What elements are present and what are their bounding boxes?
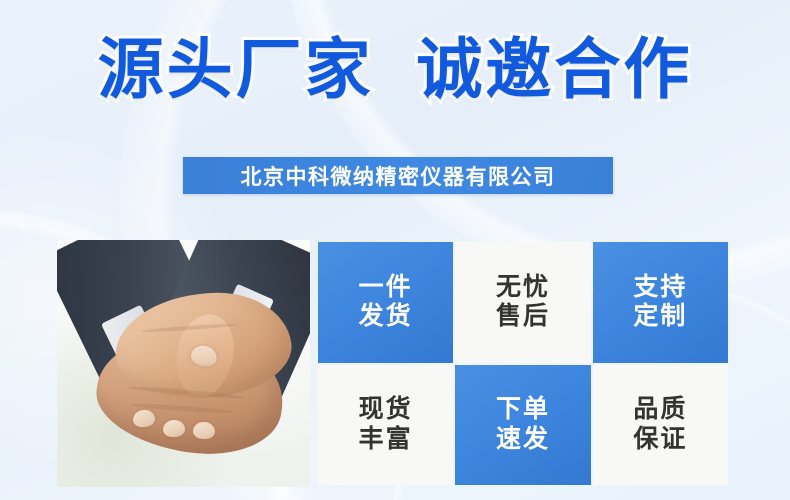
feature-tile-5[interactable]: 品质 保证	[593, 365, 728, 486]
finger-nail-two	[163, 420, 186, 438]
feature-tile-0-line2: 发货	[359, 302, 413, 332]
finger-nail-three	[193, 421, 216, 439]
feature-tile-2-line1: 支持	[633, 273, 687, 303]
feature-tile-1-line2: 售后	[496, 302, 550, 332]
feature-tile-4-line1: 下单	[496, 395, 550, 425]
feature-tile-3-line2: 丰富	[359, 425, 413, 455]
company-name-bar: 北京中科微纳精密仪器有限公司	[183, 157, 613, 194]
feature-tile-3-line1: 现货	[359, 395, 413, 425]
feature-tile-2[interactable]: 支持 定制	[593, 242, 728, 363]
feature-tile-5-line1: 品质	[633, 395, 687, 425]
feature-tile-0-line1: 一件	[359, 273, 413, 303]
feature-tile-3[interactable]: 现货 丰富	[318, 365, 453, 486]
company-name-text: 北京中科微纳精密仪器有限公司	[241, 161, 556, 191]
feature-tile-1[interactable]: 无忧 售后	[455, 242, 590, 363]
handshake-photo	[57, 240, 310, 487]
feature-tile-1-line1: 无忧	[496, 273, 550, 303]
feature-tile-2-line2: 定制	[633, 302, 687, 332]
feature-tile-4[interactable]: 下单 速发	[455, 365, 590, 486]
feature-tile-5-line2: 保证	[633, 425, 687, 455]
promo-banner: 源头厂家 诚邀合作 北京中科微纳精密仪器有限公司 一件 发货 无忧 售后 支	[0, 0, 790, 500]
feature-tile-4-line2: 速发	[496, 425, 550, 455]
feature-grid: 一件 发货 无忧 售后 支持 定制 现货 丰富 下单 速发 品质 保证	[318, 242, 728, 485]
headline-text: 源头厂家 诚邀合作	[0, 36, 790, 102]
feature-tile-0[interactable]: 一件 发货	[318, 242, 453, 363]
